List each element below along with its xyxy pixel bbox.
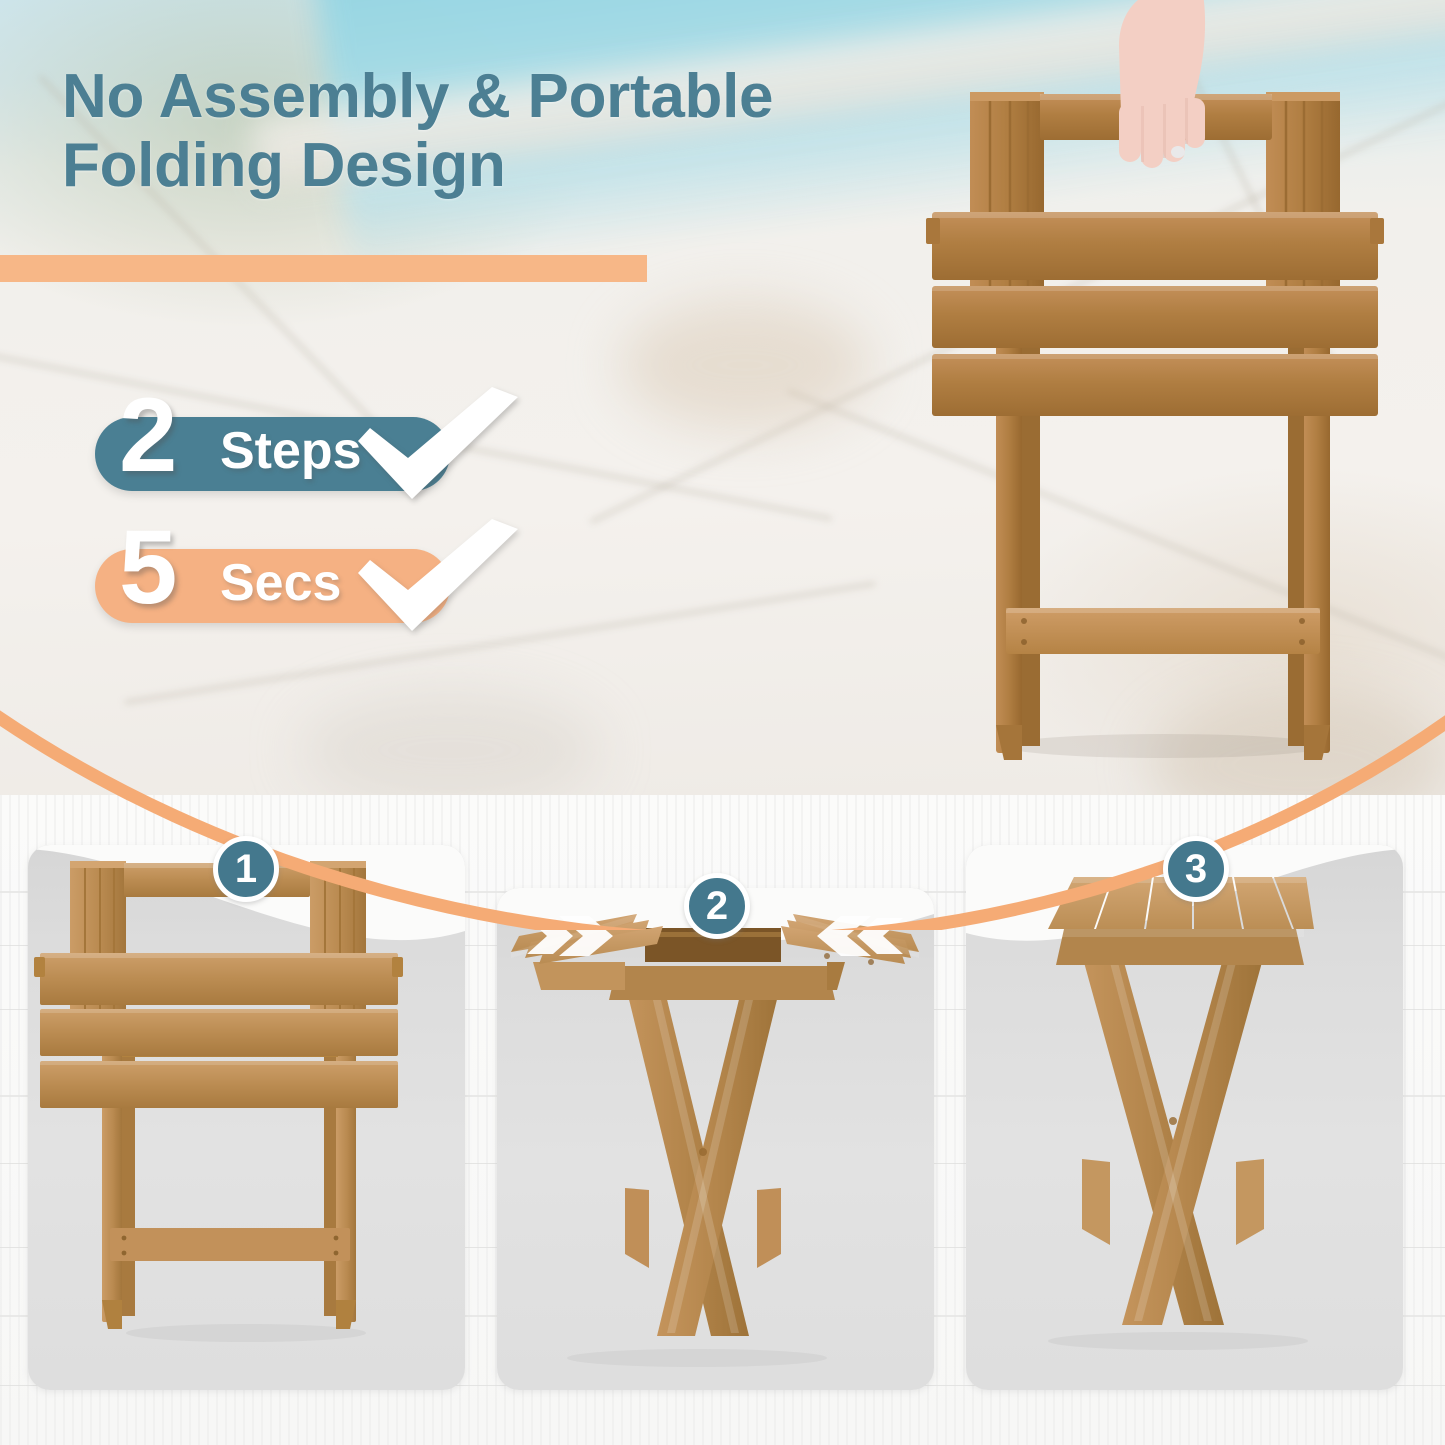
check-mark-icon [350, 381, 530, 506]
step-number-badge-2: 2 [684, 873, 750, 939]
headline-underline-bar [0, 255, 647, 282]
badge-secs-label: Secs [220, 557, 341, 609]
badge-steps-label: Steps [220, 425, 362, 477]
background-blur-spot [620, 300, 870, 430]
check-mark-icon [350, 513, 530, 638]
page-headline: No Assembly & Portable Folding Design [62, 62, 982, 201]
headline-line-2: Folding Design [62, 131, 982, 200]
step-2-figure-unfolding-table [497, 888, 934, 1390]
badge-secs-number: 5 [119, 515, 177, 620]
step-card-2[interactable] [497, 888, 934, 1390]
badge-steps-number: 2 [119, 383, 177, 488]
step-number-badge-1: 1 [213, 836, 279, 902]
step-number-badge-3: 3 [1163, 836, 1229, 902]
hand-carrying-icon [1095, 0, 1255, 184]
headline-line-1: No Assembly & Portable [62, 62, 982, 131]
